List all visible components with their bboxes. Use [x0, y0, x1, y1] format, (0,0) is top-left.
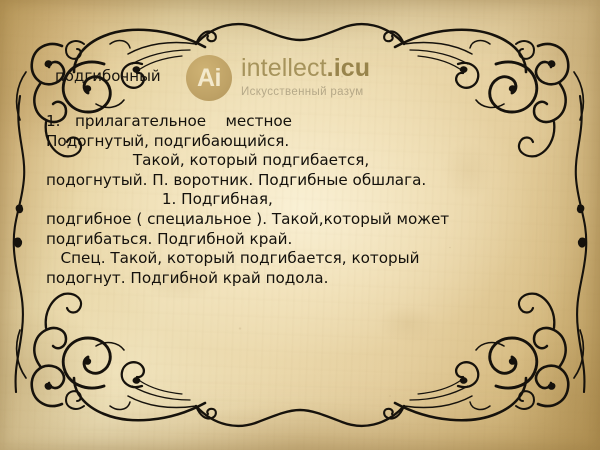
filigree-corner-bottom-right-icon [385, 290, 600, 450]
entry-line: 1. Подгибная, [46, 190, 556, 210]
entry-line: подгибаться. Подгибной край. [46, 230, 556, 250]
entry-line: подгибное ( специальное ). Такой,который… [46, 210, 556, 230]
entry-line: 1. прилагательное местное [46, 112, 556, 132]
entry-line: Такой, который подгибается, [46, 151, 556, 171]
entry-line: Подогнутый, подгибающийся. [46, 132, 556, 152]
entry-line: Спец. Такой, который подгибается, которы… [46, 249, 556, 269]
entry-line: подогнут. Подгибной край подола. [46, 269, 556, 289]
entry-line: подогнутый. П. воротник. Подгибные обшла… [46, 171, 556, 191]
dictionary-headword: подгибочный [55, 68, 161, 85]
dictionary-entry-body: 1. прилагательное местноеПодогнутый, под… [46, 112, 556, 288]
parchment-slide: Ai intellect.icu Искусственный разум под… [0, 0, 600, 450]
filigree-corner-bottom-left-icon [0, 290, 215, 450]
